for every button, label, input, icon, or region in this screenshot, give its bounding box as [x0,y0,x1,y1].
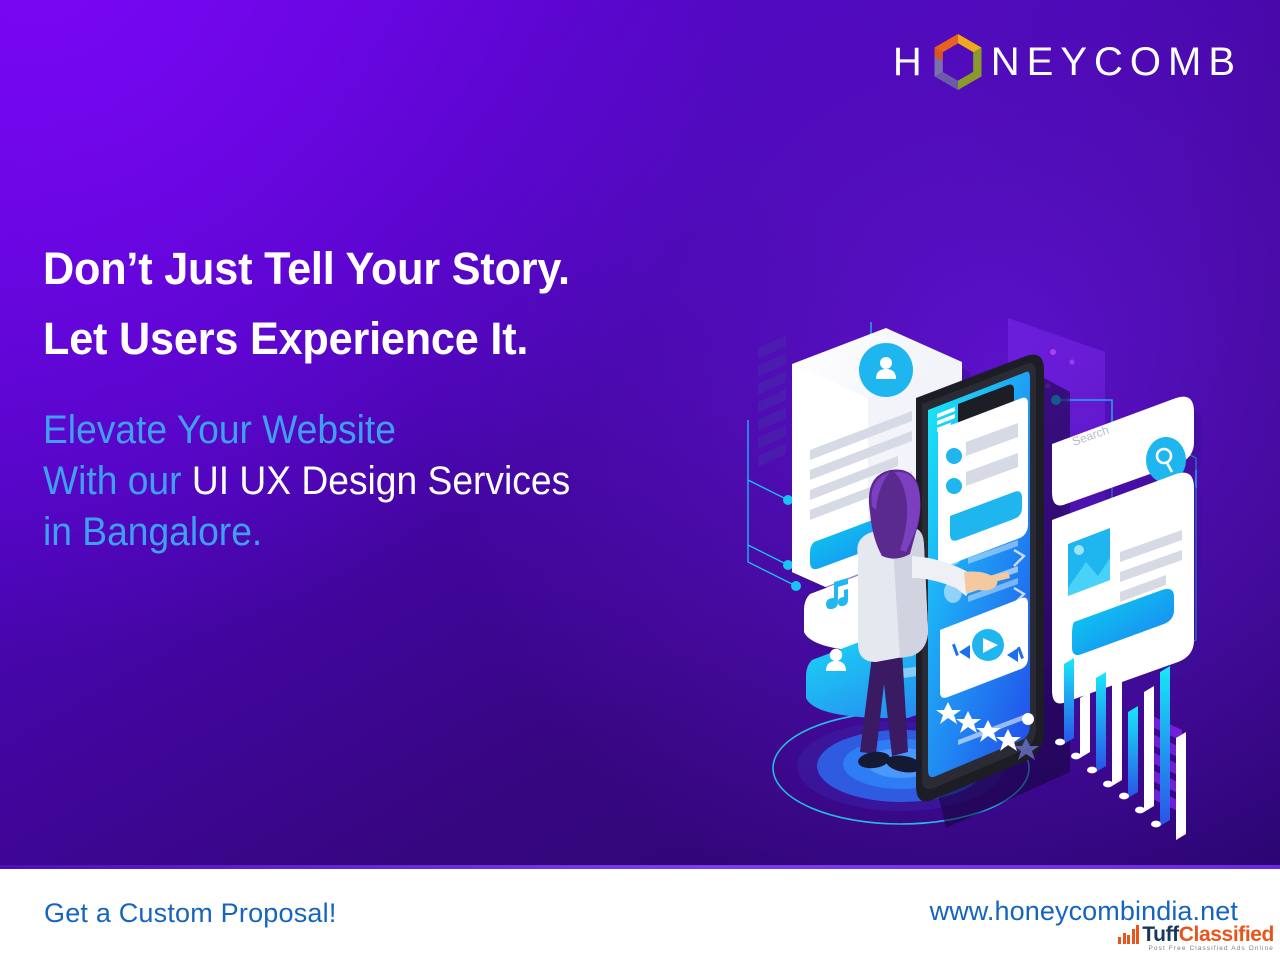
hexagon-ring-icon [931,33,985,91]
logo-letter-h: H [893,42,929,82]
footer-bar: Get a Custom Proposal! www.honeycombindi… [0,869,1280,960]
hero-panel: H NEYCOM [0,0,1280,869]
watermark-name-part1: Tuff [1142,923,1178,946]
watermark-tagline: Post Free Classified Ads Online [1118,945,1274,952]
logo-letters-neycomb: NEYCOMB [991,42,1242,82]
subhead-line-3: in Bangalore. [43,507,694,558]
subhead-line-1: Elevate Your Website [43,405,694,456]
cta-link[interactable]: Get a Custom Proposal! [44,898,337,929]
stripe-decor-left [758,335,786,467]
headline-line-1: Don’t Just Tell Your Story. [43,234,734,304]
headline-line-2: Let Users Experience It. [43,304,734,374]
poster-canvas: H NEYCOM [0,0,1280,960]
watermark-name-part2: Classified [1179,923,1274,946]
brand-logo[interactable]: H NEYCOM [893,33,1242,91]
subhead-line-2: With our UI UX Design Services [43,456,694,507]
hero-illustration: Search [726,300,1246,840]
subhead-line-2-blue: With our [43,459,192,503]
page-title: Don’t Just Tell Your Story. Let Users Ex… [43,234,734,374]
tuffclassified-watermark: TuffClassified Post Free Classified Ads … [1118,925,1274,952]
watermark-name: TuffClassified [1142,925,1274,944]
phone-mockup[interactable] [916,355,1070,828]
page-subtitle: Elevate Your Website With our UI UX Desi… [43,405,694,559]
bar-chart-icon [1118,925,1139,944]
subhead-line-2-white: UI UX Design Services [192,459,570,503]
